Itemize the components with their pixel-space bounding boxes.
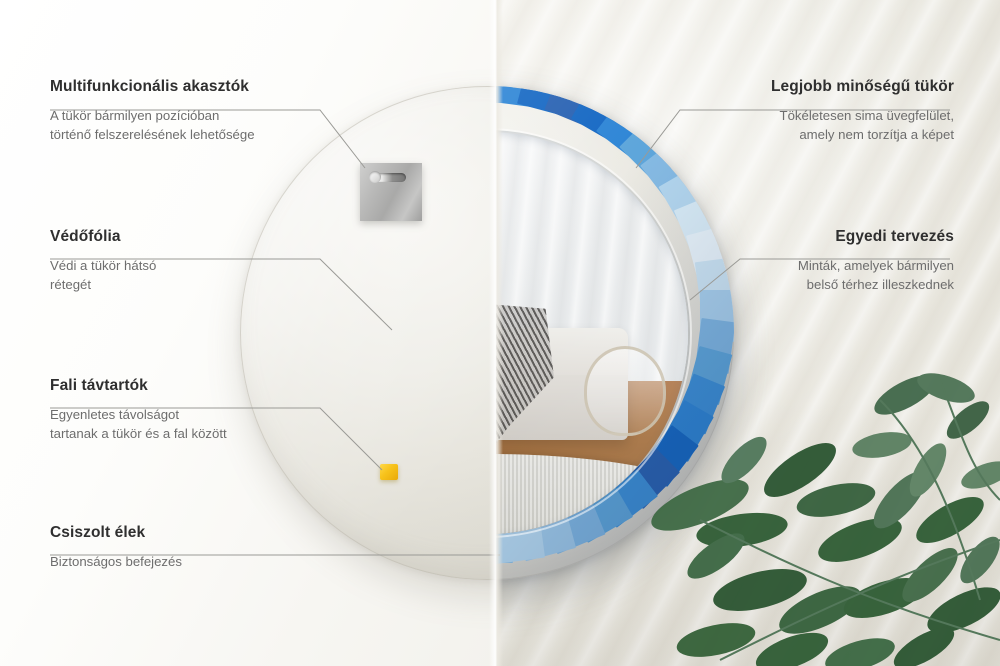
callout-best-quality-mirror: Legjobb minőségű tükör Tökéletesen sima … [771, 78, 954, 144]
keyhole-slot-icon [372, 173, 406, 182]
yellow-spacer [380, 464, 398, 480]
callout-wall-spacers: Fali távtartók Egyenletes távolságottart… [50, 377, 227, 443]
callout-description: Minták, amelyek bármilyenbelső térhez il… [798, 257, 954, 294]
callout-description: Biztonságos befejezés [50, 553, 182, 572]
callout-title: Multifunkcionális akasztók [50, 78, 255, 96]
callout-description: Védi a tükör hátsórétegét [50, 257, 156, 294]
hanger-plate [360, 163, 422, 221]
callout-title: Csiszolt élek [50, 524, 182, 542]
callout-protective-film: Védőfólia Védi a tükör hátsórétegét [50, 228, 156, 294]
callout-polished-edges: Csiszolt élek Biztonságos befejezés [50, 524, 182, 572]
infographic-canvas: Multifunkcionális akasztók A tükör bármi… [0, 0, 1000, 666]
callout-title: Legjobb minőségű tükör [771, 78, 954, 96]
callout-title: Védőfólia [50, 228, 156, 246]
panel-seam [489, 0, 503, 666]
callout-description: A tükör bármilyen pozícióbantörténő fels… [50, 107, 255, 144]
callout-description: Tökéletesen sima üvegfelület,amely nem t… [771, 107, 954, 144]
callout-description: Egyenletes távolságottartanak a tükör és… [50, 406, 227, 443]
callout-unique-design: Egyedi tervezés Minták, amelyek bármilye… [798, 228, 954, 294]
callout-title: Fali távtartók [50, 377, 227, 395]
callout-title: Egyedi tervezés [798, 228, 954, 246]
callout-multifunctional-hooks: Multifunkcionális akasztók A tükör bármi… [50, 78, 255, 144]
